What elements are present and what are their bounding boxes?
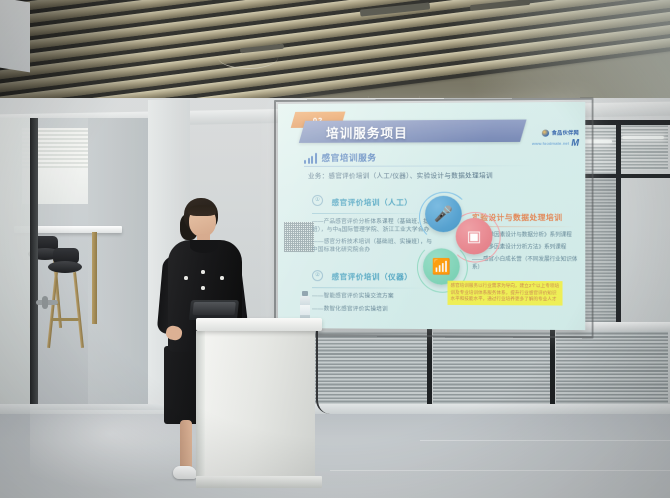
ceiling-tube-light-2 bbox=[622, 136, 664, 139]
podium-body bbox=[203, 331, 315, 478]
door-lock-icon bbox=[42, 296, 48, 309]
podium-top bbox=[196, 318, 322, 331]
blind-panel-upper-right bbox=[620, 124, 668, 170]
floor-tile-line-1 bbox=[420, 440, 670, 441]
podium-base bbox=[196, 476, 322, 488]
laptop[interactable] bbox=[189, 300, 239, 320]
ceiling-wire-1 bbox=[218, 46, 278, 69]
left-shoe bbox=[173, 466, 197, 479]
dress-button-2 bbox=[201, 286, 205, 290]
water-bottle bbox=[300, 296, 310, 320]
glass-door-panel bbox=[0, 118, 30, 416]
bottle-cap bbox=[302, 291, 308, 296]
upper-left-wall bbox=[0, 0, 30, 72]
bottle-label bbox=[300, 305, 310, 315]
dress-button-5 bbox=[184, 276, 188, 280]
dress-button-6 bbox=[220, 276, 224, 280]
podium bbox=[196, 318, 322, 488]
table-leg bbox=[92, 232, 97, 324]
hair-fringe bbox=[188, 205, 216, 216]
left-leg bbox=[180, 420, 192, 472]
screen-frame bbox=[274, 98, 594, 339]
room-wall bbox=[88, 118, 152, 418]
photo-scene: 02 培训服务项目 食品伙伴网 www.foodmate.net M 感官培训服… bbox=[0, 0, 670, 498]
collar bbox=[190, 240, 218, 253]
floor-tile-line-2 bbox=[330, 470, 670, 471]
dress-button-1 bbox=[201, 270, 205, 274]
podium-edge bbox=[196, 331, 205, 478]
door-frame bbox=[30, 118, 38, 416]
